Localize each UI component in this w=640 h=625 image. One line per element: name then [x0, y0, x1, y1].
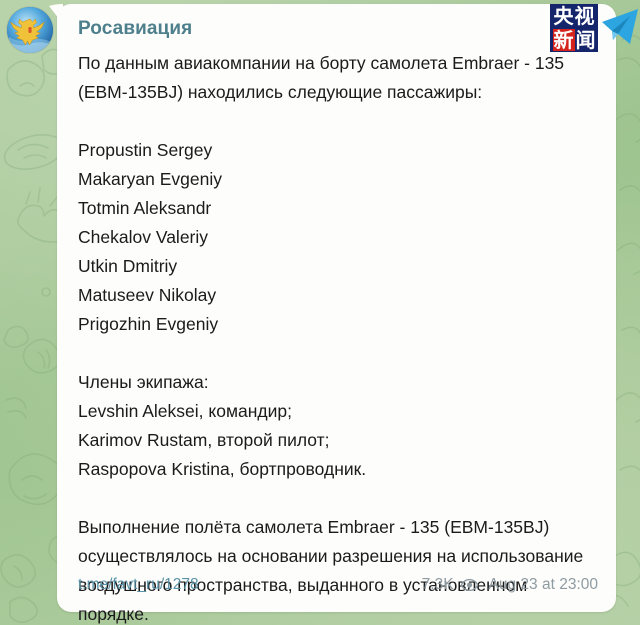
cctv-char-wen: 闻: [576, 30, 596, 50]
eye-icon: [461, 579, 478, 591]
post-link[interactable]: t.me/favt_ru/1278: [78, 576, 199, 594]
cctv-logo: 央 视 新 闻: [550, 4, 598, 52]
channel-title[interactable]: Росавиация: [78, 18, 598, 40]
cctv-char-xin: 新: [553, 29, 575, 51]
cctv-logo-row-bottom: 新 闻: [550, 28, 598, 52]
message-footer: t.me/favt_ru/1278 7.3K Aug 23 at 23:00: [78, 576, 598, 594]
bubble-tail: [49, 4, 63, 24]
message-text: По данным авиакомпании на борту самолета…: [78, 49, 594, 625]
telegram-plane-icon: [600, 4, 640, 48]
cctv-char-shi: 视: [575, 6, 595, 26]
timestamp: Aug 23 at 23:00: [489, 576, 598, 594]
cctv-logo-row-top: 央 视: [550, 4, 598, 28]
screenshot-root: Росавиация По данным авиакомпании на бор…: [0, 0, 640, 625]
views-count: 7.3K: [422, 576, 454, 594]
cctv-char-yang: 央: [554, 6, 574, 26]
avatar[interactable]: [7, 7, 53, 53]
message-bubble: Росавиация По данным авиакомпании на бор…: [57, 4, 616, 612]
message-meta: 7.3K Aug 23 at 23:00: [422, 576, 598, 594]
cctv-news-watermark: 央 视 新 闻: [550, 4, 640, 52]
